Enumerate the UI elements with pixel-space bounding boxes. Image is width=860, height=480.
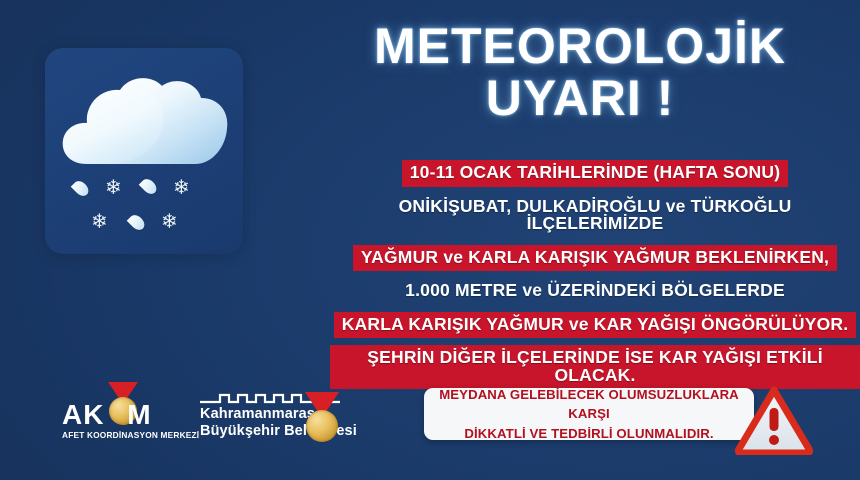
- snowflake-icon: ❄: [173, 178, 190, 198]
- snowflake-icon: ❄: [161, 212, 178, 232]
- akom-letters-before: AK: [62, 399, 104, 430]
- weather-icon-panel: ❄ ❄ ❄ ❄: [45, 48, 243, 254]
- message-line: ŞEHRİN DİĞER İLÇELERİNDE İSE KAR YAĞIŞI …: [330, 345, 860, 389]
- meteorological-warning-poster: ❄ ❄ ❄ ❄ METEOROLOJİK UYARI ! 10-11 OCAK …: [0, 0, 860, 480]
- message-line: ONİKİŞUBAT, DULKADİROĞLU ve TÜRKOĞLU İLÇ…: [330, 194, 860, 238]
- akom-subtitle: AFET KOORDİNASYON MERKEZİ: [62, 430, 184, 440]
- caution-notice-box: MEYDANA GELEBİLECEK OLUMSUZLUKLARA KARŞI…: [424, 388, 754, 440]
- message-line-text: ŞEHRİN DİĞER İLÇELERİNDE İSE KAR YAĞIŞI …: [330, 345, 860, 389]
- medal-icon: [306, 410, 338, 442]
- message-line-text: 1.000 METRE ve ÜZERİNDEKİ BÖLGELERDE: [397, 278, 793, 305]
- rain-drop-icon: [139, 176, 160, 197]
- rain-drop-icon: [127, 212, 148, 233]
- message-line: KARLA KARIŞIK YAĞMUR ve KAR YAĞIŞI ÖNGÖR…: [330, 312, 860, 339]
- akom-logo: AKOM AFET KOORDİNASYON MERKEZİ: [62, 380, 182, 446]
- caution-line-1: MEYDANA GELEBİLECEK OLUMSUZLUKLARA KARŞI: [439, 387, 739, 421]
- message-line-text: YAĞMUR ve KARLA KARIŞIK YAĞMUR BEKLENİRK…: [353, 245, 837, 272]
- message-line-text: KARLA KARIŞIK YAĞMUR ve KAR YAĞIŞI ÖNGÖR…: [334, 312, 857, 339]
- belediye-logo: Kahramanmaraş Büyükşehir Belediyesi: [200, 382, 350, 446]
- message-line: YAĞMUR ve KARLA KARIŞIK YAĞMUR BEKLENİRK…: [330, 245, 860, 272]
- cloud-icon: [57, 66, 233, 186]
- akom-letters-after: M: [127, 399, 151, 430]
- warning-message-block: 10-11 OCAK TARİHLERİNDE (HAFTA SONU) ONİ…: [330, 160, 860, 396]
- belediye-line-1: Kahramanmaraş: [200, 406, 315, 422]
- snowflake-icon: ❄: [105, 178, 122, 198]
- message-line: 10-11 OCAK TARİHLERİNDE (HAFTA SONU): [330, 160, 860, 187]
- caution-line-2: DİKKATLİ VE TEDBİRLİ OLUNMALIDIR.: [464, 426, 713, 441]
- caution-notice-text: MEYDANA GELEBİLECEK OLUMSUZLUKLARA KARŞI…: [424, 385, 754, 442]
- akom-wordmark: AKOM: [62, 400, 182, 430]
- title-line-2: UYARI !: [300, 72, 860, 124]
- message-line-text: ONİKİŞUBAT, DULKADİROĞLU ve TÜRKOĞLU İLÇ…: [330, 194, 860, 238]
- precipitation-group: ❄ ❄ ❄ ❄: [69, 176, 221, 246]
- message-line: 1.000 METRE ve ÜZERİNDEKİ BÖLGELERDE: [330, 278, 860, 305]
- title-line-1: METEOROLOJİK: [300, 20, 860, 72]
- warning-triangle-icon: [735, 385, 813, 455]
- snowflake-icon: ❄: [91, 212, 108, 232]
- message-line-text: 10-11 OCAK TARİHLERİNDE (HAFTA SONU): [402, 160, 789, 187]
- rain-drop-icon: [71, 178, 92, 199]
- page-title: METEOROLOJİK UYARI !: [300, 20, 860, 124]
